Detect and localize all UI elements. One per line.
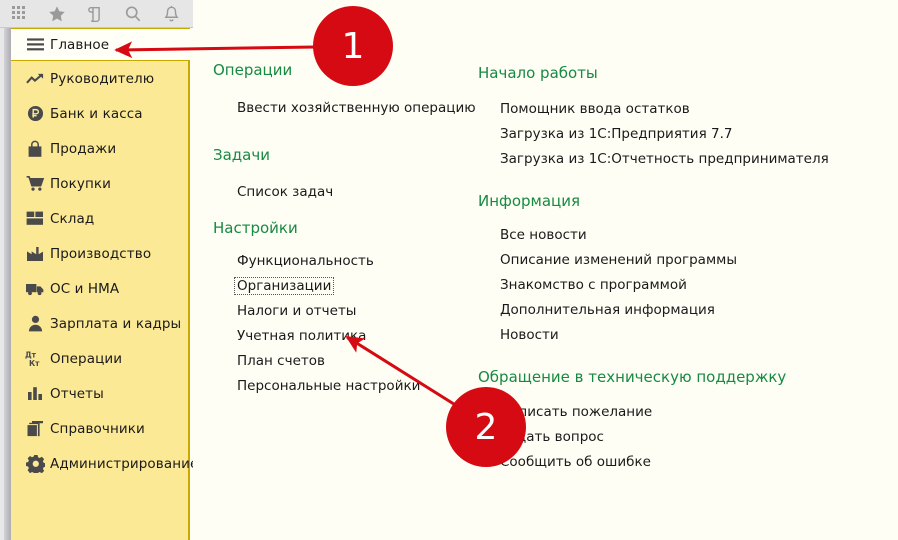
trend-up-icon	[20, 72, 50, 86]
sidebar-item-label: Продажи	[50, 141, 116, 157]
link-uchetnaya-politika[interactable]: Учетная политика	[235, 328, 368, 344]
link-spisok-zadach[interactable]: Список задач	[235, 184, 335, 200]
ruble-coin-icon	[20, 105, 50, 122]
sidebar-item-zarplata-i-kadry[interactable]: Зарплата и кадры	[11, 306, 188, 341]
svg-text:Кт: Кт	[29, 359, 40, 368]
sidebar-item-label: Банк и касса	[50, 106, 143, 122]
sidebar-item-glavnoe[interactable]: Главное	[11, 28, 190, 61]
sidebar-item-label: Зарплата и кадры	[50, 316, 181, 332]
shopping-bag-icon	[20, 140, 50, 158]
sidebar-item-label: ОС и НМА	[50, 281, 119, 297]
top-toolbar	[0, 0, 193, 28]
section-title-nachalo-raboty: Начало работы	[478, 64, 598, 82]
warehouse-grid-icon	[20, 211, 50, 226]
sidebar-item-label: Покупки	[50, 176, 111, 192]
sidebar-item-operacii[interactable]: Дт Кт Операции	[11, 341, 188, 376]
section-title-operacii: Операции	[213, 61, 292, 79]
shopping-cart-icon	[20, 175, 50, 192]
sidebar-item-pokupki[interactable]: Покупки	[11, 166, 188, 201]
sidebar-item-label: Главное	[50, 37, 109, 53]
link-pomoschnik-vvoda-ostatkov[interactable]: Помощник ввода остатков	[498, 101, 692, 117]
person-icon	[20, 315, 50, 332]
sidebar-item-spravochniki[interactable]: Справочники	[11, 411, 188, 446]
main-sidebar: Руководителю Банк и касса	[11, 28, 190, 540]
sidebar-nav-list: Руководителю Банк и касса	[11, 61, 188, 481]
link-organizacii[interactable]: Организации	[235, 278, 333, 294]
debit-credit-icon: Дт Кт	[20, 349, 50, 369]
annotation-badge-2-label: 2	[475, 407, 498, 448]
section-title-informaciya: Информация	[478, 192, 580, 210]
annotation-badge-1: 1	[313, 6, 393, 86]
gear-icon	[20, 454, 50, 473]
application-window: Руководителю Банк и касса	[0, 0, 898, 540]
link-personalnye-nastroyki[interactable]: Персональные настройки	[235, 378, 422, 394]
main-content: Операции Ввести хозяйственную операцию З…	[193, 28, 898, 540]
link-zagruzka-1s-otchetnost-predprinimatelya[interactable]: Загрузка из 1С:Отчетность предпринимател…	[498, 151, 831, 167]
apps-grid-icon[interactable]	[0, 0, 38, 27]
sidebar-item-rukovoditelyu[interactable]: Руководителю	[11, 61, 188, 96]
factory-icon	[20, 246, 50, 262]
sidebar-item-os-i-nma[interactable]: ОС и НМА	[11, 271, 188, 306]
sidebar-item-prodazhi[interactable]: Продажи	[11, 131, 188, 166]
link-nalogi-i-otchety[interactable]: Налоги и отчеты	[235, 303, 358, 319]
section-title-nastroyki: Настройки	[213, 219, 298, 237]
link-vvesti-hozyaystvennuyu-operaciyu[interactable]: Ввести хозяйственную операцию	[235, 100, 478, 116]
bar-chart-icon	[20, 386, 50, 401]
link-dopolnitelnaya-informaciya[interactable]: Дополнительная информация	[498, 302, 717, 318]
link-soobschit-ob-oshibke[interactable]: Сообщить об ошибке	[498, 454, 653, 470]
link-opisanie-izmeneniy-programmy[interactable]: Описание изменений программы	[498, 252, 739, 268]
bell-icon[interactable]	[152, 0, 190, 27]
annotation-badge-1-label: 1	[342, 26, 365, 67]
section-title-zadachi: Задачи	[213, 146, 270, 164]
hamburger-icon	[20, 38, 50, 51]
sidebar-item-label: Операции	[50, 351, 122, 367]
sidebar-scrollbar-track	[0, 28, 4, 540]
link-znakomstvo-s-programmoy[interactable]: Знакомство с программой	[498, 277, 689, 293]
sidebar-item-label: Справочники	[50, 421, 145, 437]
link-vse-novosti[interactable]: Все новости	[498, 227, 589, 243]
sidebar-item-label: Администрирование	[50, 456, 198, 472]
star-icon[interactable]	[38, 0, 76, 27]
sidebar-scrollbar[interactable]	[0, 28, 11, 540]
sidebar-item-label: Производство	[50, 246, 151, 262]
link-funkcionalnost[interactable]: Функциональность	[235, 253, 376, 269]
link-zagruzka-1s-predpriyatie-77[interactable]: Загрузка из 1С:Предприятия 7.7	[498, 126, 734, 142]
sidebar-item-label: Отчеты	[50, 386, 104, 402]
section-title-obraschenie-v-tehpodderzhku: Обращение в техническую поддержку	[478, 368, 786, 386]
sidebar-item-administrirovanie[interactable]: Администрирование	[11, 446, 188, 481]
sidebar-item-label: Руководителю	[50, 71, 154, 87]
truck-icon	[20, 281, 50, 296]
books-stack-icon	[20, 420, 50, 438]
sidebar-item-bank-i-kassa[interactable]: Банк и касса	[11, 96, 188, 131]
search-icon[interactable]	[114, 0, 152, 27]
sidebar-item-sklad[interactable]: Склад	[11, 201, 188, 236]
link-plan-schetov[interactable]: План счетов	[235, 353, 327, 369]
sidebar-item-label: Склад	[50, 211, 94, 227]
sidebar-item-otchety[interactable]: Отчеты	[11, 376, 188, 411]
link-novosti[interactable]: Новости	[498, 327, 561, 343]
annotation-badge-2: 2	[446, 387, 526, 467]
history-icon[interactable]	[76, 0, 114, 27]
sidebar-item-proizvodstvo[interactable]: Производство	[11, 236, 188, 271]
